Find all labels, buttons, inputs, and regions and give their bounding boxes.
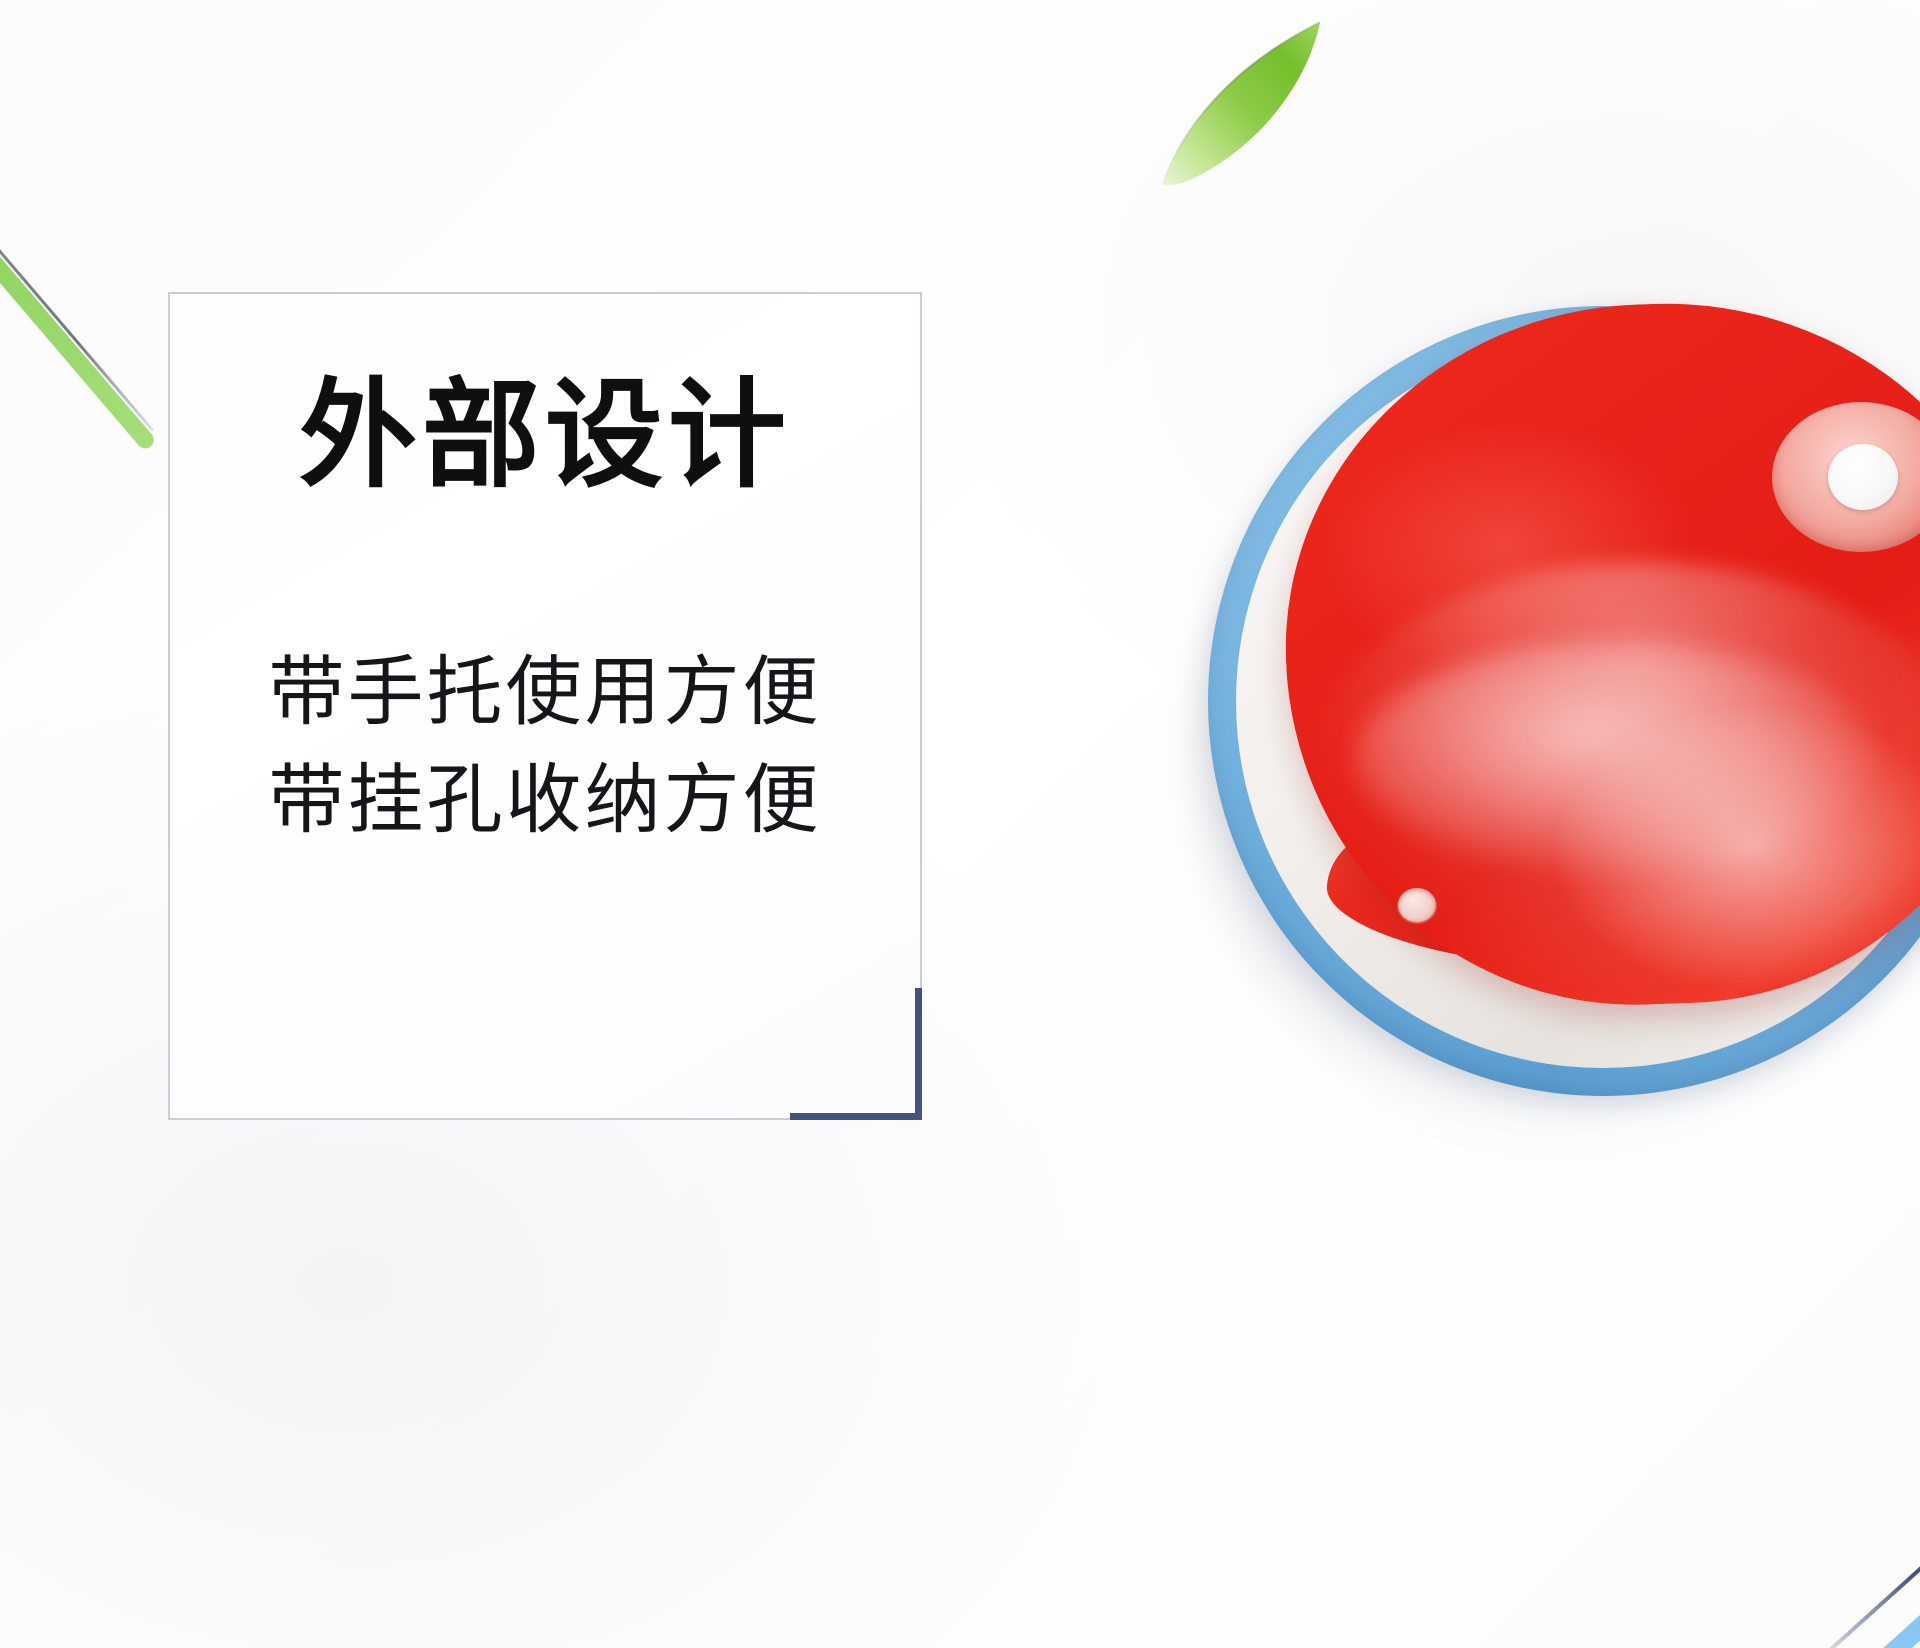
product-image [1160,262,1920,1242]
feature-list-item: 带手托使用方便 [269,647,822,737]
feature-text-card-inner: 外部设计 带手托使用方便 带挂孔收纳方便 [170,294,920,1118]
gray-hairline-icon [0,73,154,432]
product-hanging-hole [1398,888,1436,922]
feature-text-card: 外部设计 带手托使用方便 带挂孔收纳方便 [168,292,922,1120]
page-title: 外部设计 [299,372,791,499]
green-diagonal-bar [0,91,157,452]
product-feature-banner: 外部设计 带手托使用方便 带挂孔收纳方便 [0,0,1920,1648]
feature-list: 带手托使用方便 带挂孔收纳方便 [269,647,822,844]
navy-hairline-icon [1806,1469,1920,1648]
feature-list-item: 带挂孔收纳方便 [269,755,822,845]
green-leaf-icon [1148,8,1338,198]
product-knob [1828,444,1898,510]
blue-diagonal-bar [1730,1505,1920,1648]
